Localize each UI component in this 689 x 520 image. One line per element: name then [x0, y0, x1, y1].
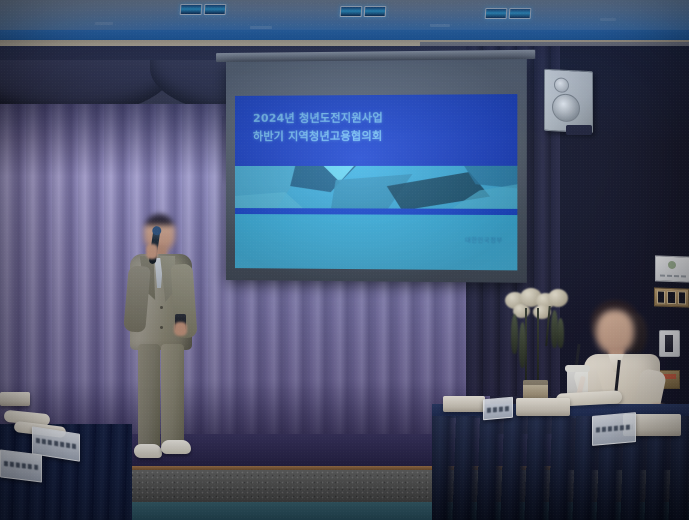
photo-scene: 2024년 청년도전지원사업 하반기 지역청년고용협의회 [0, 0, 689, 520]
gift-box [0, 392, 30, 406]
ceiling-light-pair-3-icon [485, 8, 532, 19]
flower-arrangement [503, 288, 569, 406]
wall-plaque [655, 255, 689, 282]
speaker-mount-arm [566, 125, 592, 135]
ceiling-vent [95, 22, 113, 25]
slide-footer-band: 대한민국정부 [235, 214, 517, 270]
gift-box [516, 398, 570, 416]
pa-speaker-icon [544, 69, 593, 134]
presenter-jacket-button [160, 306, 163, 309]
presenter-hand-left [146, 244, 158, 259]
presenter-hand-right [174, 322, 187, 336]
presenter-shoe-right [161, 440, 191, 454]
table-row [592, 412, 636, 446]
presenter-trouser-right [161, 344, 184, 448]
presentation-slide: 2024년 청년도전지원사업 하반기 지역청년고용협의회 [235, 94, 517, 270]
speaker-woofer [552, 93, 580, 122]
ceiling-vent [430, 24, 450, 27]
slide-title-text: 2024년 청년도전지원사업 하반기 지역청년고용협의회 [253, 109, 383, 146]
projection-screen: 2024년 청년도전지원사업 하반기 지역청년고용협의회 [226, 59, 527, 287]
ceiling-light-pair-1-icon [180, 4, 227, 15]
presenter-jacket-button [160, 326, 163, 329]
slide-graphic-band [235, 166, 517, 211]
low-poly-graphic-icon [235, 166, 517, 211]
list-item [0, 449, 42, 482]
speaker-tweeter [554, 77, 569, 93]
ceiling-vent [250, 26, 272, 29]
slide-logo-text: 대한민국정부 [465, 235, 503, 244]
ceiling-vent [600, 18, 616, 21]
screen-surface: 2024년 청년도전지원사업 하반기 지역청년고용협의회 [226, 59, 527, 283]
table-row [483, 397, 513, 421]
cup-lid [565, 365, 590, 372]
ceiling-light-pair-2-icon [340, 6, 387, 17]
gift-box [443, 396, 485, 412]
